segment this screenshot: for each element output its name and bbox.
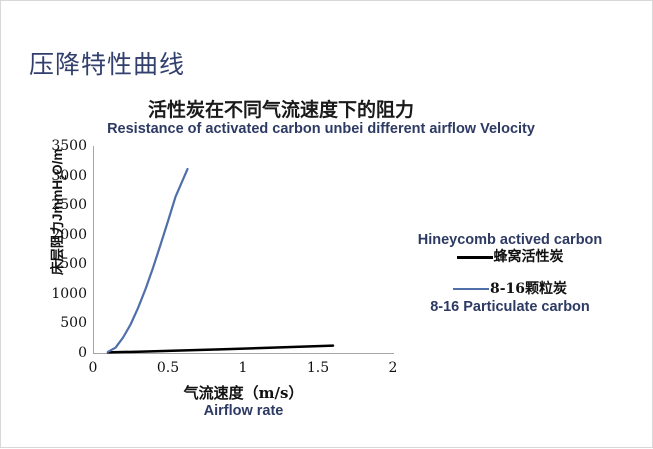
legend-item-particulate: 8-16颗粒炭 8-16 Particulate carbon: [379, 281, 641, 317]
legend-row: 8-16颗粒炭: [379, 281, 641, 299]
plot-area: [93, 146, 393, 353]
x-tick-label: 2: [389, 360, 398, 376]
chart-subtitle: Resistance of activated carbon unbei dif…: [1, 121, 641, 137]
legend-item-honeycomb: Hineycomb actived carbon 蜂窝活性炭: [379, 231, 641, 267]
x-tick-label: 1: [239, 360, 248, 376]
legend-label-english: 8-16 Particulate carbon: [379, 298, 641, 316]
legend-swatch-black-icon: [457, 256, 493, 259]
x-axis-title-english: Airflow rate: [93, 403, 394, 419]
y-tick-label: 0: [78, 346, 87, 360]
series-plot: [93, 146, 393, 353]
chart-container: 活性炭在不同气流速度下的阻力 Resistance of activated c…: [1, 1, 653, 449]
series-line-particulate: [108, 169, 188, 352]
x-axis-tick-labels: 0 0.5 1 1.5 2: [93, 360, 394, 378]
legend-label-chinese: 8-16颗粒炭: [490, 281, 567, 299]
y-axis-title: 床层阻力JmmH2O/m: [46, 132, 68, 292]
series-line-honeycomb: [108, 346, 333, 353]
x-tick-label: 1.5: [307, 360, 329, 376]
legend-swatch-blue-icon: [453, 288, 489, 290]
legend-label-chinese: 蜂窝活性炭: [494, 249, 564, 267]
slide-canvas: 压降特性曲线 活性炭在不同气流速度下的阻力 Resistance of acti…: [0, 0, 653, 448]
y-tick-label: 500: [60, 316, 87, 330]
x-axis-title: 气流速度（m/s）: [93, 382, 394, 403]
chart-title: 活性炭在不同气流速度下的阻力: [1, 95, 561, 122]
x-tick-label: 0: [89, 360, 98, 376]
x-tick-label: 0.5: [157, 360, 179, 376]
legend-label-english: Hineycomb actived carbon: [379, 231, 641, 249]
legend-row: 蜂窝活性炭: [379, 249, 641, 267]
x-axis-line: [93, 353, 394, 354]
chart-legend: Hineycomb actived carbon 蜂窝活性炭 8-16颗粒炭 8…: [379, 231, 641, 316]
